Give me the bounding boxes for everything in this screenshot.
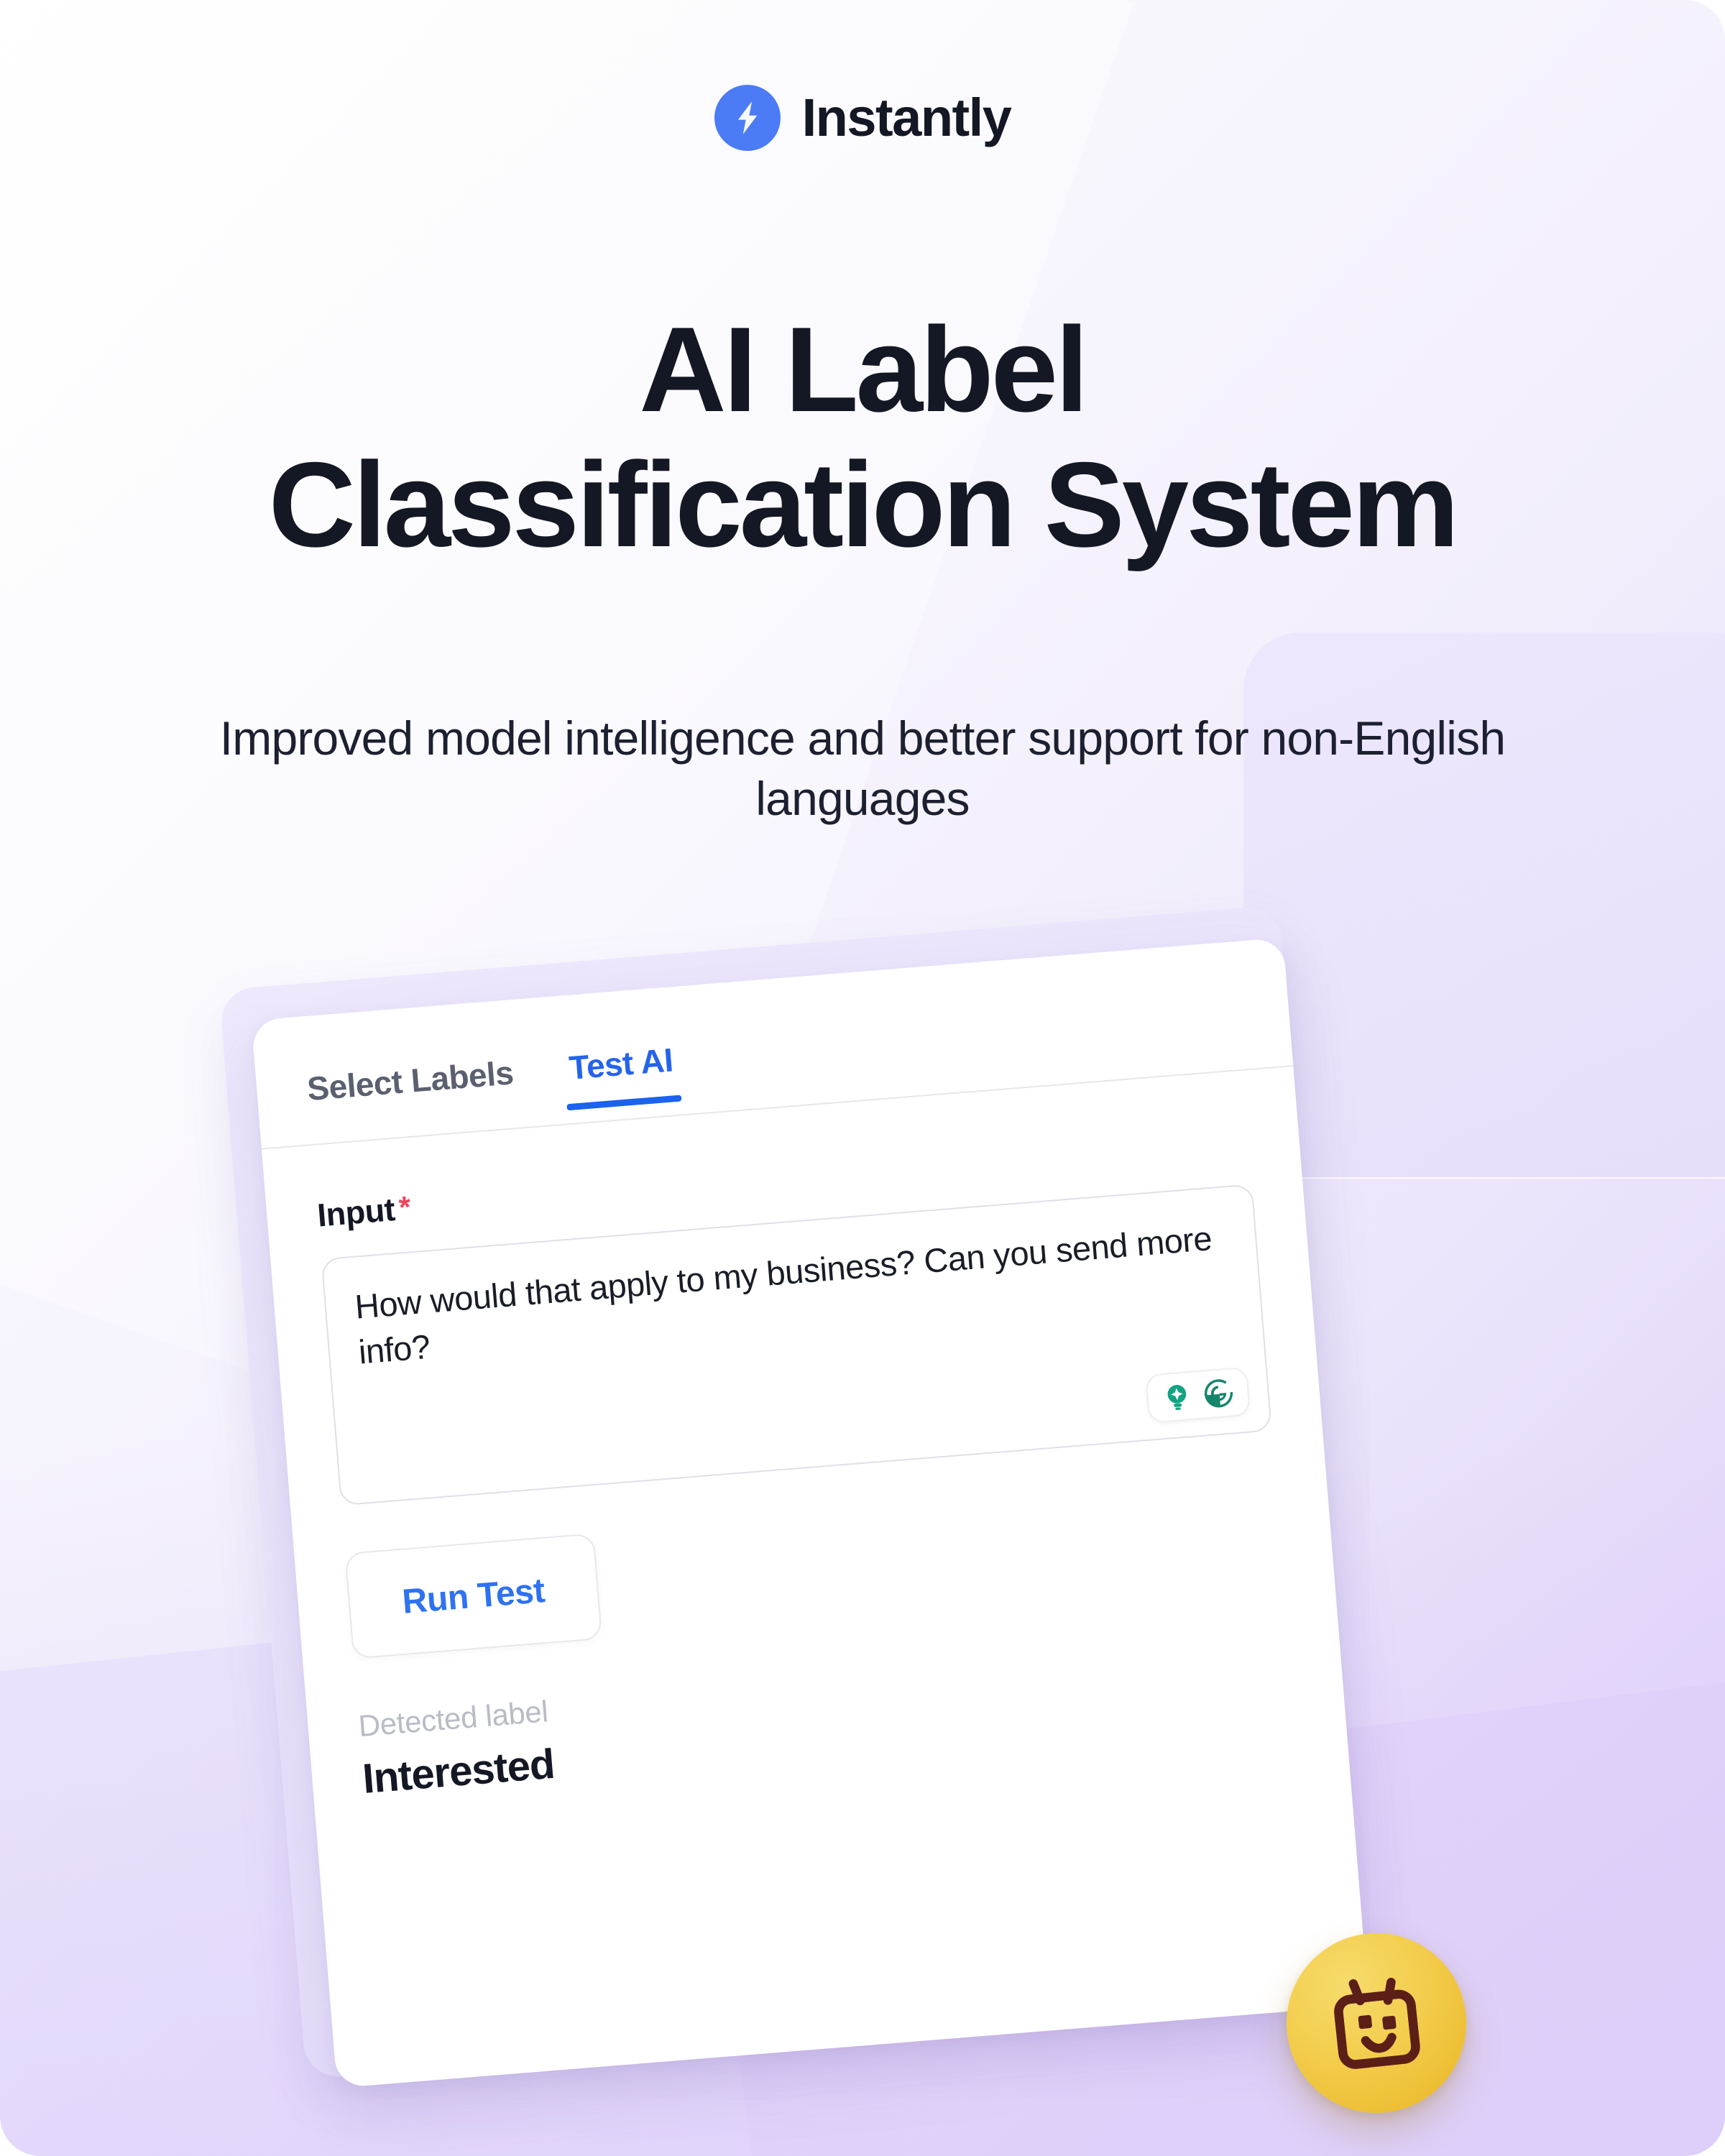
robot-face-badge <box>1287 1933 1466 2113</box>
input-label-text: Input <box>316 1191 397 1233</box>
lightning-bolt-icon <box>714 85 781 151</box>
page-title: AI Label Classification System <box>101 302 1624 572</box>
grammarly-g-icon[interactable] <box>1202 1376 1236 1410</box>
brand-lockup: Instantly <box>0 85 1725 151</box>
input-textarea-value: How would that apply to my business? Can… <box>354 1215 1232 1375</box>
tab-test-ai[interactable]: Test AI <box>568 1040 676 1105</box>
headline-line-2: Classification System <box>269 437 1457 572</box>
ai-label-test-card: Select Labels Test AI Input* How would t… <box>252 938 1369 2088</box>
required-asterisk: * <box>397 1189 412 1224</box>
promo-graphic: Instantly AI Label Classification System… <box>0 0 1725 2156</box>
lightbulb-sparkle-icon[interactable] <box>1160 1380 1194 1414</box>
detected-label-section: Detected label Interested <box>357 1634 1296 1803</box>
input-textarea[interactable]: How would that apply to my business? Can… <box>321 1184 1271 1506</box>
page-subtitle: Improved model intelligence and better s… <box>216 708 1509 829</box>
product-card-stage: Select Labels Test AI Input* How would t… <box>255 934 1405 2113</box>
grammarly-toolbar[interactable] <box>1145 1367 1251 1424</box>
run-test-button[interactable]: Run Test <box>344 1533 602 1659</box>
brand-name: Instantly <box>802 91 1011 144</box>
robot-face-icon <box>1316 1963 1437 2083</box>
headline-line-1: AI Label <box>639 302 1085 437</box>
tab-select-labels[interactable]: Select Labels <box>305 1053 516 1127</box>
card-tabs: Select Labels Test AI <box>305 995 1243 1146</box>
